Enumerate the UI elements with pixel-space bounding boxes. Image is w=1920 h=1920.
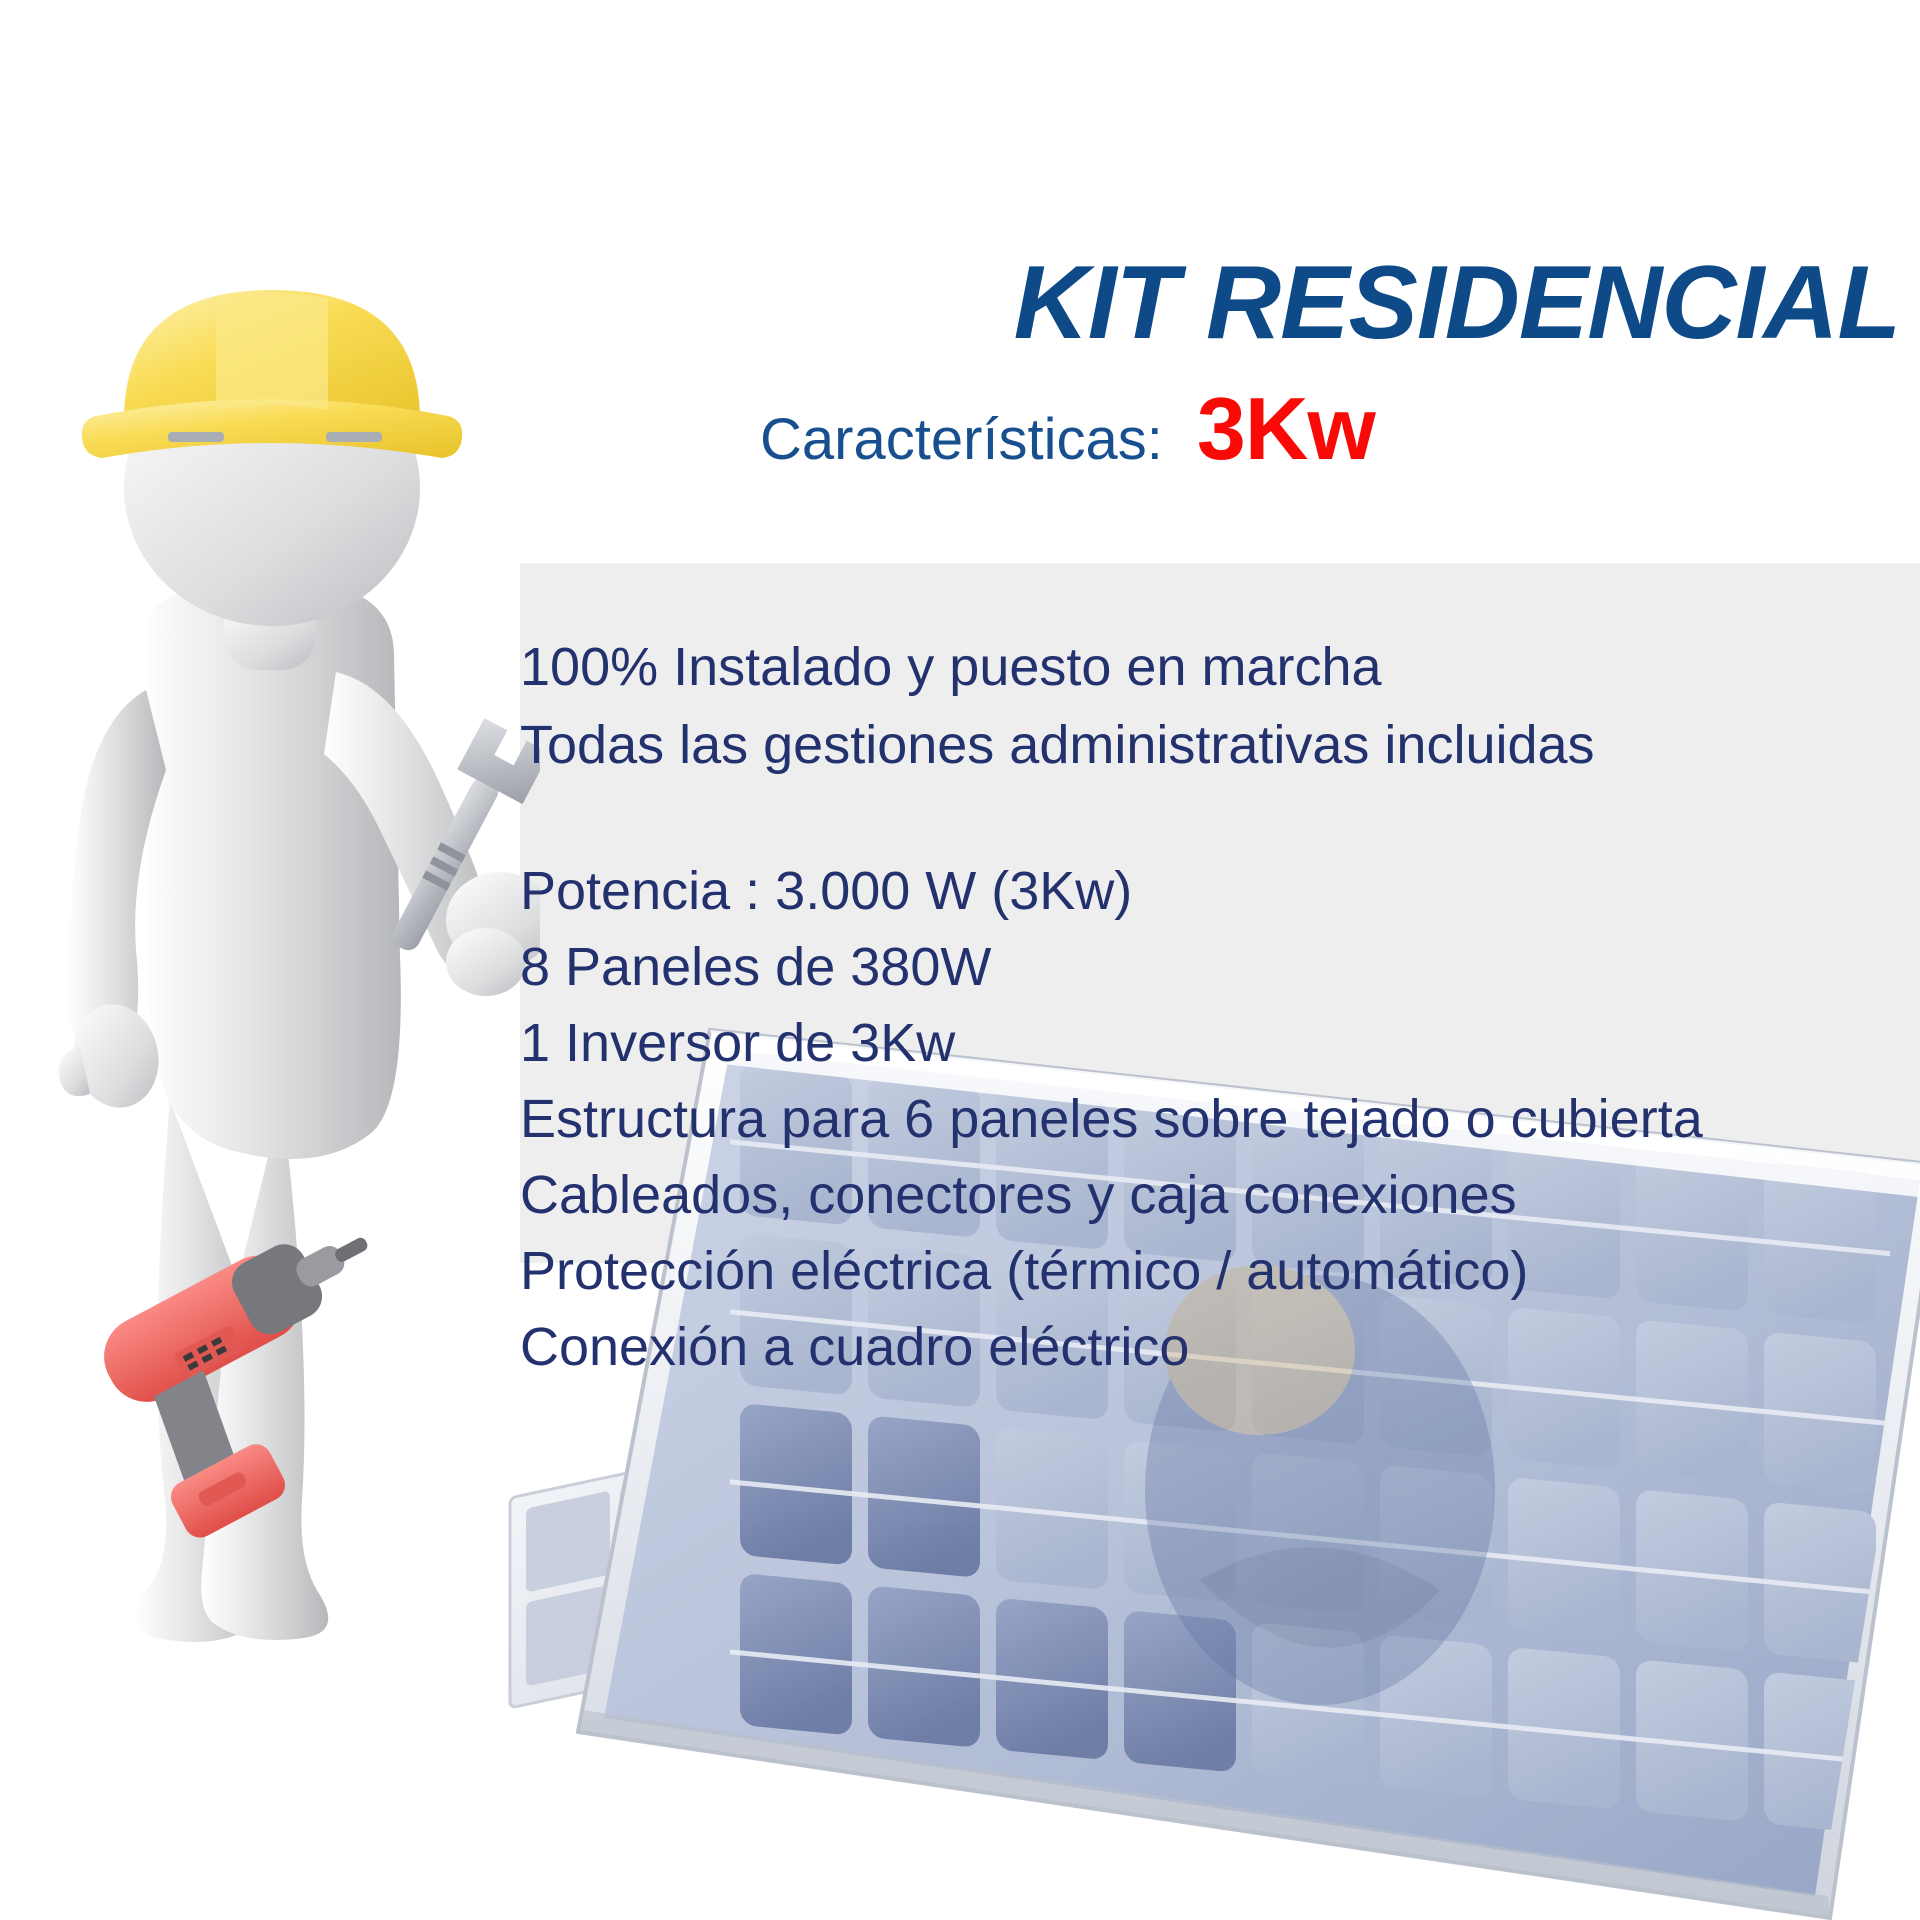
spec-item-cableados: Cableados, conectores y caja conexiones bbox=[520, 1168, 1920, 1222]
intro-line-2: Todas las gestiones administrativas incl… bbox=[520, 718, 1920, 772]
spec-item-paneles: 8 Paneles de 380W bbox=[520, 940, 1920, 994]
subtitle-row: Características: 3Kw bbox=[700, 378, 1900, 480]
spec-item-proteccion: Protección eléctrica (térmico / automáti… bbox=[520, 1244, 1920, 1298]
power-badge: 3Kw bbox=[1197, 378, 1375, 480]
spec-item-potencia: Potencia : 3.000 W (3Kw) bbox=[520, 864, 1920, 918]
hard-hat-icon bbox=[82, 290, 462, 458]
header-block: KIT RESIDENCIAL Características: 3Kw bbox=[700, 250, 1900, 480]
spacer bbox=[520, 796, 1920, 864]
intro-line-1: 100% Instalado y puesto en marcha bbox=[520, 640, 1920, 694]
spec-item-inversor: 1 Inversor de 3Kw bbox=[520, 1016, 1920, 1070]
3d-worker-character bbox=[20, 220, 540, 1700]
page-title: KIT RESIDENCIAL bbox=[700, 250, 1900, 356]
specs-text-block: 100% Instalado y puesto en marcha Todas … bbox=[520, 640, 1920, 1396]
promo-banner: KIT RESIDENCIAL Características: 3Kw 100… bbox=[0, 0, 1920, 1920]
spec-item-estructura: Estructura para 6 paneles sobre tejado o… bbox=[520, 1092, 1920, 1146]
spec-item-conexion: Conexión a cuadro eléctrico bbox=[520, 1320, 1920, 1374]
characteristics-label: Características: bbox=[760, 406, 1163, 473]
